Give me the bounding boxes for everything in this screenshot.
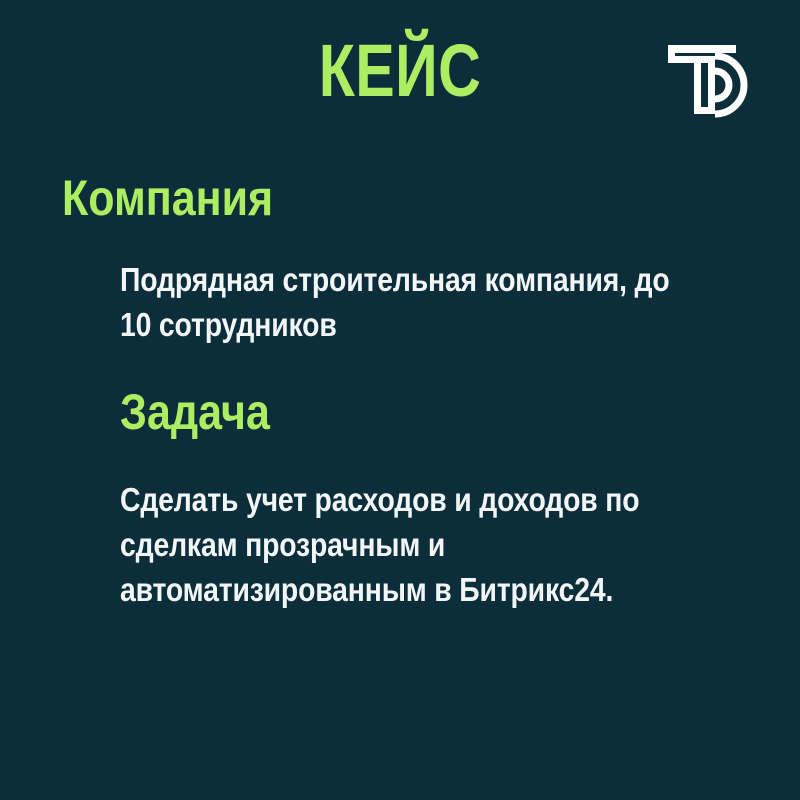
section-heading-company: Компания (62, 170, 273, 226)
section-heading-task: Задача (120, 384, 270, 440)
td-brand-logo-svg (664, 40, 754, 118)
slide-canvas: КЕЙС Компания (0, 0, 800, 800)
td-brand-logo-icon (664, 40, 754, 118)
section-body-company: Подрядная строительная компания, до 10 с… (120, 257, 688, 347)
slide-header: КЕЙС (0, 0, 800, 140)
page-title: КЕЙС (80, 30, 720, 112)
section-body-task: Сделать учет расходов и доходов по сделк… (120, 477, 705, 612)
